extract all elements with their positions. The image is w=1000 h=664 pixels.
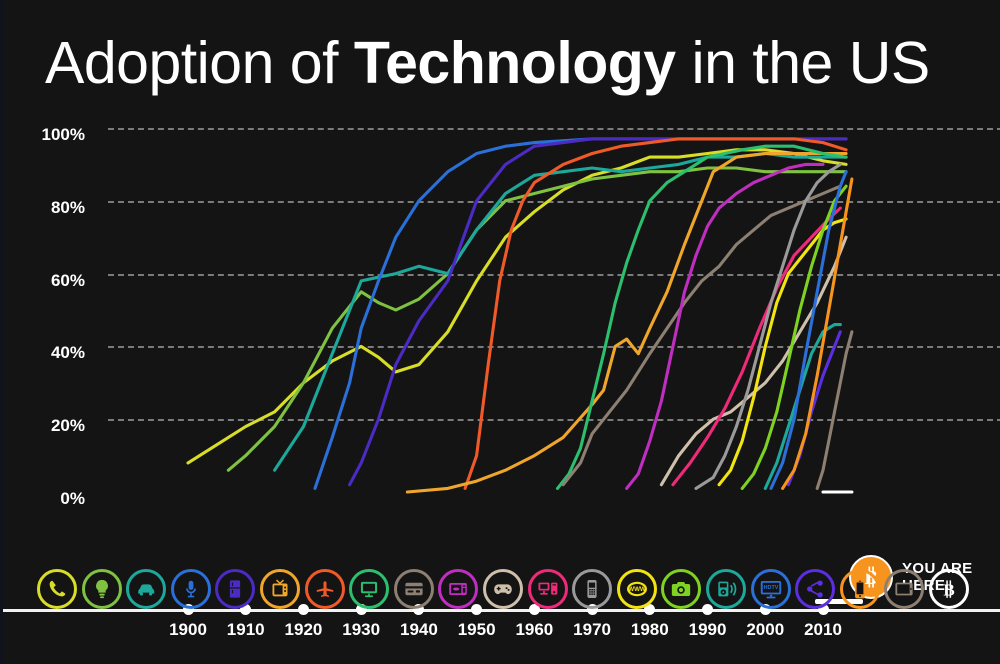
digital-camera-icon [670,578,692,600]
social-media-icon [804,578,826,600]
legend-chip-hdtv-icon[interactable]: HDTV [751,569,791,609]
x-axis-label: 1900 [158,620,218,640]
title-emphasis: Technology [354,30,676,96]
x-axis-label: 2010 [793,620,853,640]
series-line [228,168,846,470]
www-internet-icon: WWW [625,577,649,601]
bitcoin-icon: B [937,577,961,601]
x-axis-label: 1940 [389,620,449,640]
legend-chip-www-internet-icon[interactable]: WWW [617,569,657,609]
legend-chip-social-media-icon[interactable] [795,569,835,609]
legend-chip-refrigerator-icon[interactable] [215,569,255,609]
refrigerator-icon [224,578,246,600]
x-axis-label: 1990 [678,620,738,640]
legend-chip-game-console-icon[interactable] [483,569,523,609]
microwave-icon [447,578,469,600]
svg-text:HDTV: HDTV [763,585,778,591]
mp3-player-icon [715,578,737,600]
x-axis-label: 1930 [331,620,391,640]
television-icon [269,578,291,600]
legend-chip-credit-card-icon[interactable] [394,569,434,609]
telephone-icon [46,578,68,600]
series-line [407,154,846,493]
smartphone-icon [849,578,871,600]
legend-chip-computer-icon[interactable] [528,569,568,609]
tablet-icon [893,578,915,600]
x-axis-label: 1970 [562,620,622,640]
legend-chip-mp3-player-icon[interactable] [706,569,746,609]
legend-chip-television-icon[interactable] [260,569,300,609]
page-title: Adoption of Technology in the US [45,32,930,94]
series-line [627,164,823,488]
light-bulb-icon [91,578,113,600]
x-axis-label: 1920 [273,620,333,640]
legend-chip-tablet-icon[interactable] [884,569,924,609]
airplane-icon [314,578,336,600]
series-line [817,332,852,489]
title-prefix: Adoption of [45,30,354,96]
legend-chip-microwave-icon[interactable] [438,569,478,609]
svg-text:B: B [943,580,954,599]
x-axis-label: 1960 [504,620,564,640]
x-axis-label: 1910 [216,620,276,640]
legend-chip-airplane-icon[interactable] [305,569,345,609]
legend-chip-smartphone-icon[interactable] [840,569,880,609]
color-tv-icon [358,578,380,600]
legend-chip-telephone-icon[interactable] [37,569,77,609]
svg-text:WWW: WWW [628,586,646,593]
chart: 0%20%40%60%80%100% 190019101920193019401… [3,118,1000,500]
series-line [275,154,847,471]
title-suffix: in the US [676,30,930,96]
credit-card-icon [403,578,425,600]
x-axis-label: 1950 [447,620,507,640]
technology-icon-legend: WWWHDTVB [3,558,1000,620]
legend-chip-radio-microphone-icon[interactable] [171,569,211,609]
legend-chip-car-icon[interactable] [126,569,166,609]
infographic-root: Adoption of Technology in the US 0%20%40… [0,0,1000,664]
line-series-group [3,118,1000,500]
legend-chip-bitcoin-icon[interactable]: B [929,569,969,609]
x-axis-label: 2000 [735,620,795,640]
game-console-icon [492,578,514,600]
legend-chip-color-tv-icon[interactable] [349,569,389,609]
legend-chip-light-bulb-icon[interactable] [82,569,122,609]
cell-phone-icon [581,578,603,600]
radio-microphone-icon [180,578,202,600]
legend-chip-digital-camera-icon[interactable] [661,569,701,609]
legend-chip-cell-phone-icon[interactable] [572,569,612,609]
x-axis-label: 1980 [620,620,680,640]
hdtv-icon: HDTV [759,577,783,601]
computer-icon [537,578,559,600]
car-icon [135,578,157,600]
